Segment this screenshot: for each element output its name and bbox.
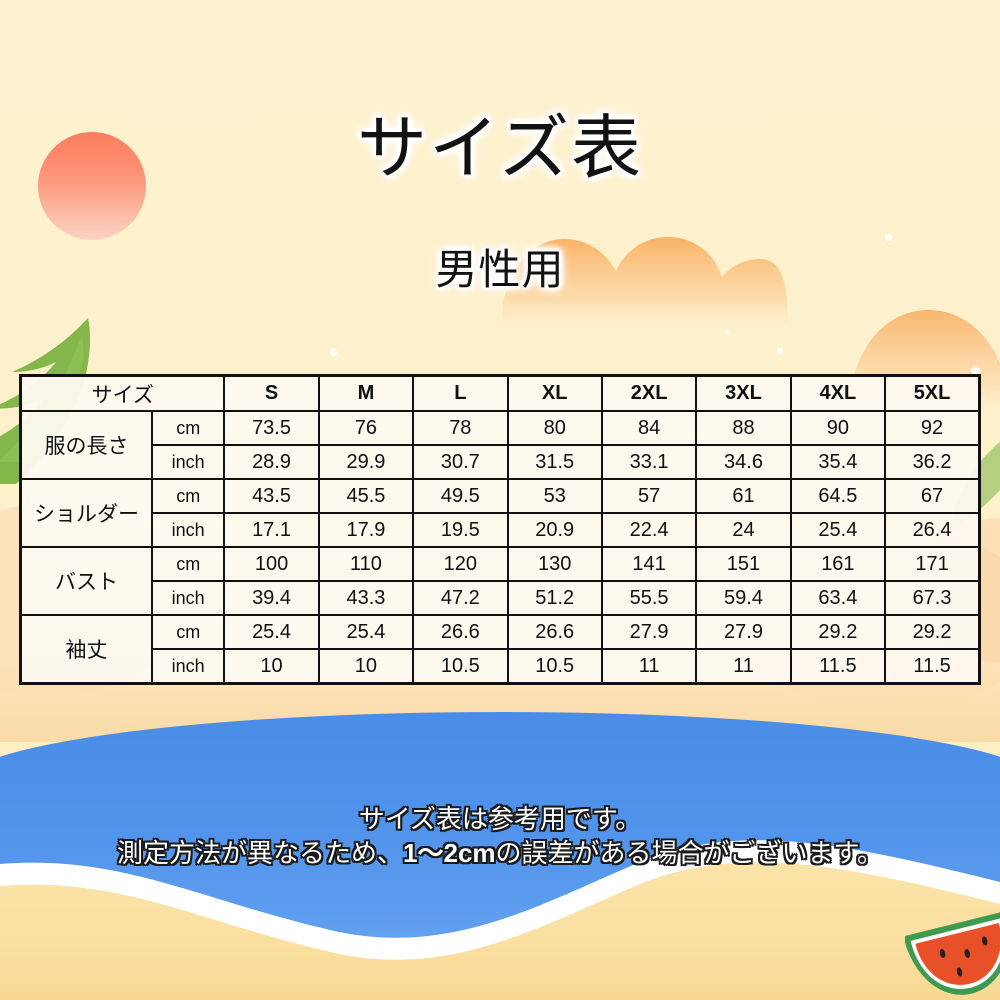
- cell-shoulder-cm-m: 45.5: [319, 479, 413, 513]
- cell-shoulder-cm-3xl: 61: [696, 479, 790, 513]
- cell-length-cm-4xl: 90: [791, 411, 885, 445]
- cell-bust-inch-m: 43.3: [319, 581, 413, 615]
- cell-bust-inch-2xl: 55.5: [602, 581, 696, 615]
- footer-line-2: 測定方法が異なるため、1〜2cmの誤差がある場合がございます。: [0, 836, 1000, 870]
- sparkle-icon: [330, 348, 338, 356]
- table-row: 服の長さ cm 73.5 76 78 80 84 88 90 92: [21, 411, 980, 445]
- cell-length-inch-2xl: 33.1: [602, 445, 696, 479]
- unit-cm: cm: [152, 615, 224, 649]
- cell-shoulder-cm-s: 43.5: [224, 479, 318, 513]
- table-header-row: サイズ S M L XL 2XL 3XL 4XL 5XL: [21, 376, 980, 412]
- cell-bust-cm-3xl: 151: [696, 547, 790, 581]
- cell-shoulder-inch-l: 19.5: [413, 513, 507, 547]
- cell-sleeve-cm-s: 25.4: [224, 615, 318, 649]
- table-row: バスト cm 100 110 120 130 141 151 161 171: [21, 547, 980, 581]
- table-row: inch 39.4 43.3 47.2 51.2 55.5 59.4 63.4 …: [21, 581, 980, 615]
- sparkle-icon: [725, 330, 730, 335]
- cell-shoulder-cm-4xl: 64.5: [791, 479, 885, 513]
- cell-sleeve-inch-l: 10.5: [413, 649, 507, 684]
- header-size-s: S: [224, 376, 318, 412]
- footer-line-1: サイズ表は参考用です。: [0, 802, 1000, 836]
- cell-length-inch-5xl: 36.2: [885, 445, 979, 479]
- cell-length-cm-2xl: 84: [602, 411, 696, 445]
- cell-sleeve-inch-xl: 10.5: [508, 649, 602, 684]
- cell-sleeve-cm-5xl: 29.2: [885, 615, 979, 649]
- unit-cm: cm: [152, 547, 224, 581]
- cell-length-inch-3xl: 34.6: [696, 445, 790, 479]
- cell-sleeve-cm-l: 26.6: [413, 615, 507, 649]
- cell-bust-inch-xl: 51.2: [508, 581, 602, 615]
- page-subtitle: 男性用: [0, 236, 1000, 297]
- cell-length-cm-5xl: 92: [885, 411, 979, 445]
- cell-bust-cm-xl: 130: [508, 547, 602, 581]
- size-table: サイズ S M L XL 2XL 3XL 4XL 5XL 服の長さ cm 73.…: [19, 374, 981, 685]
- table-row: inch 10 10 10.5 10.5 11 11 11.5 11.5: [21, 649, 980, 684]
- footer-line-2-suffix: の誤差がある場合がございます。: [496, 838, 883, 868]
- cell-shoulder-inch-5xl: 26.4: [885, 513, 979, 547]
- cell-sleeve-cm-2xl: 27.9: [602, 615, 696, 649]
- unit-inch: inch: [152, 513, 224, 547]
- cell-shoulder-inch-m: 17.9: [319, 513, 413, 547]
- cell-shoulder-cm-5xl: 67: [885, 479, 979, 513]
- row-label-sleeve: 袖丈: [21, 615, 153, 684]
- cell-length-inch-m: 29.9: [319, 445, 413, 479]
- unit-inch: inch: [152, 445, 224, 479]
- cell-bust-inch-l: 47.2: [413, 581, 507, 615]
- cell-shoulder-inch-4xl: 25.4: [791, 513, 885, 547]
- cell-bust-cm-m: 110: [319, 547, 413, 581]
- header-size-xl: XL: [508, 376, 602, 412]
- cell-bust-cm-5xl: 171: [885, 547, 979, 581]
- cell-length-cm-3xl: 88: [696, 411, 790, 445]
- cell-sleeve-inch-4xl: 11.5: [791, 649, 885, 684]
- cell-length-inch-l: 30.7: [413, 445, 507, 479]
- size-chart-image: サイズ表 男性用 サイズ S M L XL 2XL 3XL 4XL 5XL: [0, 0, 1000, 1000]
- cell-shoulder-inch-2xl: 22.4: [602, 513, 696, 547]
- cell-bust-cm-l: 120: [413, 547, 507, 581]
- cell-shoulder-inch-xl: 20.9: [508, 513, 602, 547]
- cell-sleeve-inch-5xl: 11.5: [885, 649, 979, 684]
- table-row: inch 17.1 17.9 19.5 20.9 22.4 24 25.4 26…: [21, 513, 980, 547]
- cell-length-inch-4xl: 35.4: [791, 445, 885, 479]
- footer-line-2-prefix: 測定方法が異なるため、: [117, 838, 403, 868]
- unit-cm: cm: [152, 411, 224, 445]
- cell-sleeve-cm-m: 25.4: [319, 615, 413, 649]
- cell-shoulder-cm-xl: 53: [508, 479, 602, 513]
- cell-bust-cm-s: 100: [224, 547, 318, 581]
- table-row: inch 28.9 29.9 30.7 31.5 33.1 34.6 35.4 …: [21, 445, 980, 479]
- unit-inch: inch: [152, 649, 224, 684]
- cell-length-inch-xl: 31.5: [508, 445, 602, 479]
- cell-length-cm-xl: 80: [508, 411, 602, 445]
- cell-bust-inch-s: 39.4: [224, 581, 318, 615]
- cell-shoulder-inch-s: 17.1: [224, 513, 318, 547]
- cell-shoulder-cm-2xl: 57: [602, 479, 696, 513]
- row-label-shoulder: ショルダー: [21, 479, 153, 547]
- row-label-length: 服の長さ: [21, 411, 153, 479]
- cell-length-cm-l: 78: [413, 411, 507, 445]
- unit-inch: inch: [152, 581, 224, 615]
- cell-length-cm-m: 76: [319, 411, 413, 445]
- cell-length-inch-s: 28.9: [224, 445, 318, 479]
- table-row: ショルダー cm 43.5 45.5 49.5 53 57 61 64.5 67: [21, 479, 980, 513]
- page-title: サイズ表: [0, 92, 1000, 193]
- cell-sleeve-inch-m: 10: [319, 649, 413, 684]
- cell-bust-inch-3xl: 59.4: [696, 581, 790, 615]
- cell-sleeve-cm-3xl: 27.9: [696, 615, 790, 649]
- header-size-2xl: 2XL: [602, 376, 696, 412]
- cell-sleeve-inch-3xl: 11: [696, 649, 790, 684]
- header-size-label: サイズ: [21, 376, 225, 412]
- cell-shoulder-cm-l: 49.5: [413, 479, 507, 513]
- unit-cm: cm: [152, 479, 224, 513]
- header-size-m: M: [319, 376, 413, 412]
- footer-tolerance-value: 1〜2cm: [403, 838, 496, 868]
- table-row: 袖丈 cm 25.4 25.4 26.6 26.6 27.9 27.9 29.2…: [21, 615, 980, 649]
- cell-shoulder-inch-3xl: 24: [696, 513, 790, 547]
- cell-sleeve-inch-s: 10: [224, 649, 318, 684]
- header-size-4xl: 4XL: [791, 376, 885, 412]
- header-size-5xl: 5XL: [885, 376, 979, 412]
- cell-bust-inch-4xl: 63.4: [791, 581, 885, 615]
- header-size-3xl: 3XL: [696, 376, 790, 412]
- size-table-container: サイズ S M L XL 2XL 3XL 4XL 5XL 服の長さ cm 73.…: [19, 374, 981, 685]
- sparkle-icon: [777, 348, 783, 354]
- footer-disclaimer: サイズ表は参考用です。 測定方法が異なるため、1〜2cmの誤差がある場合がござい…: [0, 802, 1000, 870]
- header-size-l: L: [413, 376, 507, 412]
- watermelon-icon: [905, 905, 1000, 1000]
- cell-length-cm-s: 73.5: [224, 411, 318, 445]
- cell-bust-inch-5xl: 67.3: [885, 581, 979, 615]
- cell-sleeve-cm-xl: 26.6: [508, 615, 602, 649]
- cell-sleeve-cm-4xl: 29.2: [791, 615, 885, 649]
- cell-sleeve-inch-2xl: 11: [602, 649, 696, 684]
- cell-bust-cm-4xl: 161: [791, 547, 885, 581]
- row-label-bust: バスト: [21, 547, 153, 615]
- cell-bust-cm-2xl: 141: [602, 547, 696, 581]
